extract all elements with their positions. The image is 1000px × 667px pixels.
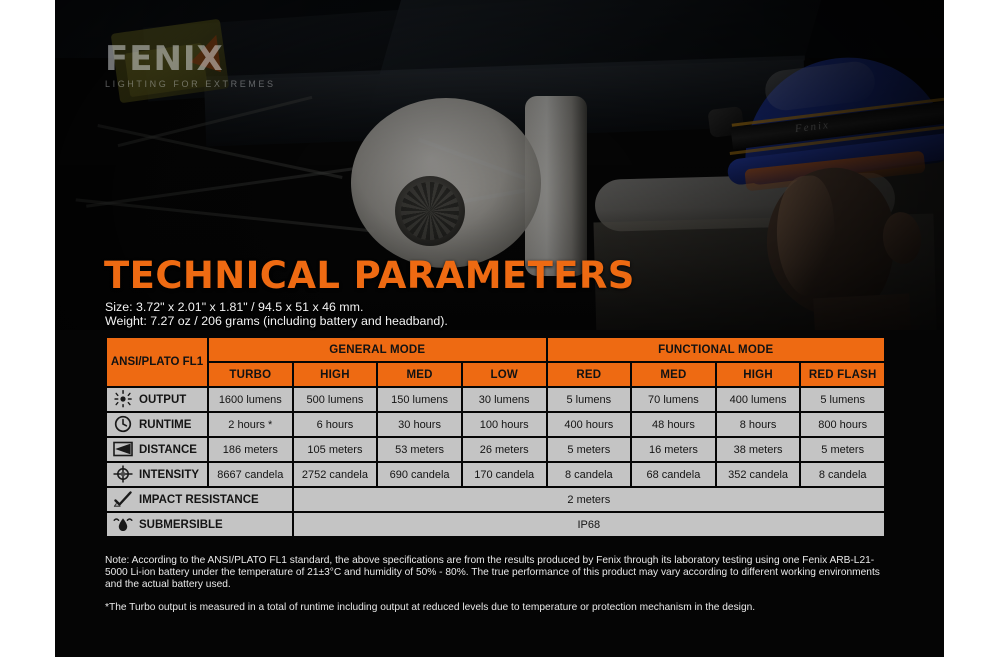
table-row: OUTPUT1600 lumens500 lumens150 lumens30 … [107, 388, 884, 411]
group-header-1: GENERAL MODE [209, 338, 546, 361]
cell-r3-c7: 38 meters [717, 438, 800, 461]
cell-r4-c5: 8 candela [548, 463, 631, 486]
footnotes: Note: According to the ANSI/PLATO FL1 st… [105, 555, 891, 614]
cell-r1-c6: 70 lumens [632, 388, 715, 411]
table-row: IMPACT RESISTANCE2 meters [107, 488, 884, 511]
cell-r2-c1: 2 hours * [209, 413, 292, 436]
note-asterisk: *The Turbo output is measured in a total… [105, 602, 891, 614]
column-header-6: MED [632, 363, 715, 386]
cell-r3-c8: 5 meters [801, 438, 884, 461]
water-drop-icon [111, 515, 135, 533]
impact-hammer-icon [111, 490, 135, 508]
row-label-text: INTENSITY [139, 469, 199, 481]
cell-impact-resistance-value: 2 meters [294, 488, 884, 511]
cell-r4-c2: 2752 candela [294, 463, 377, 486]
page-title: TECHNICAL PARAMETERS [104, 257, 635, 294]
light-burst-icon [111, 390, 135, 408]
cell-r1-c2: 500 lumens [294, 388, 377, 411]
column-header-2: HIGH [294, 363, 377, 386]
cell-r3-c2: 105 meters [294, 438, 377, 461]
row-label-impact-resistance: IMPACT RESISTANCE [107, 488, 292, 511]
cell-r2-c4: 100 hours [463, 413, 546, 436]
row-label-text: RUNTIME [139, 419, 191, 431]
column-header-1: TURBO [209, 363, 292, 386]
cell-r4-c7: 352 candela [717, 463, 800, 486]
note-ansi: Note: According to the ANSI/PLATO FL1 st… [105, 555, 891, 591]
column-header-3: MED [378, 363, 461, 386]
cell-r4-c8: 8 candela [801, 463, 884, 486]
cell-r2-c7: 8 hours [717, 413, 800, 436]
cell-r1-c4: 30 lumens [463, 388, 546, 411]
table-row: SUBMERSIBLEIP68 [107, 513, 884, 536]
beam-distance-icon [111, 440, 135, 458]
cell-r4-c1: 8667 candela [209, 463, 292, 486]
cell-r3-c6: 16 meters [632, 438, 715, 461]
row-label-runtime: RUNTIME [107, 413, 207, 436]
corner-label-ansi-plato: ANSI/PLATO FL1 [107, 338, 207, 386]
cell-r4-c6: 68 candela [632, 463, 715, 486]
product-specs: Size: 3.72" x 2.01" x 1.81" / 94.5 x 51 … [105, 300, 448, 329]
logo-wordmark: FENIX [105, 42, 276, 76]
cell-r1-c8: 5 lumens [801, 388, 884, 411]
row-label-distance: DISTANCE [107, 438, 207, 461]
cell-r1-c1: 1600 lumens [209, 388, 292, 411]
cell-r2-c2: 6 hours [294, 413, 377, 436]
table-header-columns: TURBOHIGHMEDLOWREDMEDHIGHRED FLASH [107, 363, 884, 386]
cell-r1-c3: 150 lumens [378, 388, 461, 411]
page-root: Fenix FENIX LIGHTING FOR EXTREMES TECHNI… [0, 0, 1000, 667]
row-label-text: IMPACT RESISTANCE [139, 494, 259, 506]
cell-r2-c3: 30 hours [378, 413, 461, 436]
clock-icon [111, 415, 135, 433]
row-label-text: DISTANCE [139, 444, 197, 456]
cell-r1-c5: 5 lumens [548, 388, 631, 411]
logo-tagline: LIGHTING FOR EXTREMES [105, 79, 276, 89]
size-line: Size: 3.72" x 2.01" x 1.81" / 94.5 x 51 … [105, 300, 448, 314]
cell-r3-c4: 26 meters [463, 438, 546, 461]
table-row: DISTANCE186 meters105 meters53 meters26 … [107, 438, 884, 461]
cell-r4-c4: 170 candela [463, 463, 546, 486]
row-label-text: SUBMERSIBLE [139, 519, 223, 531]
table-row: INTENSITY8667 candela2752 candela690 can… [107, 463, 884, 486]
group-header-2: FUNCTIONAL MODE [548, 338, 885, 361]
row-label-intensity: INTENSITY [107, 463, 207, 486]
cell-r3-c5: 5 meters [548, 438, 631, 461]
table-row: RUNTIME2 hours *6 hours30 hours100 hours… [107, 413, 884, 436]
cell-r2-c6: 48 hours [632, 413, 715, 436]
row-label-output: OUTPUT [107, 388, 207, 411]
intensity-icon [111, 465, 135, 483]
table-header-groups: ANSI/PLATO FL1GENERAL MODEFUNCTIONAL MOD… [107, 338, 884, 361]
parameters-table-wrapper: ANSI/PLATO FL1GENERAL MODEFUNCTIONAL MOD… [105, 336, 886, 538]
cell-r2-c8: 800 hours [801, 413, 884, 436]
row-label-submersible: SUBMERSIBLE [107, 513, 292, 536]
fenix-logo: FENIX LIGHTING FOR EXTREMES [105, 42, 276, 89]
parameters-table: ANSI/PLATO FL1GENERAL MODEFUNCTIONAL MOD… [105, 336, 886, 538]
cell-r1-c7: 400 lumens [717, 388, 800, 411]
column-header-5: RED [548, 363, 631, 386]
cell-submersible-value: IP68 [294, 513, 884, 536]
cell-r2-c5: 400 hours [548, 413, 631, 436]
cell-r3-c3: 53 meters [378, 438, 461, 461]
row-label-text: OUTPUT [139, 394, 186, 406]
column-header-8: RED FLASH [801, 363, 884, 386]
column-header-7: HIGH [717, 363, 800, 386]
weight-line: Weight: 7.27 oz / 206 grams (including b… [105, 314, 448, 328]
cell-r4-c3: 690 candela [378, 463, 461, 486]
column-header-4: LOW [463, 363, 546, 386]
cell-r3-c1: 186 meters [209, 438, 292, 461]
